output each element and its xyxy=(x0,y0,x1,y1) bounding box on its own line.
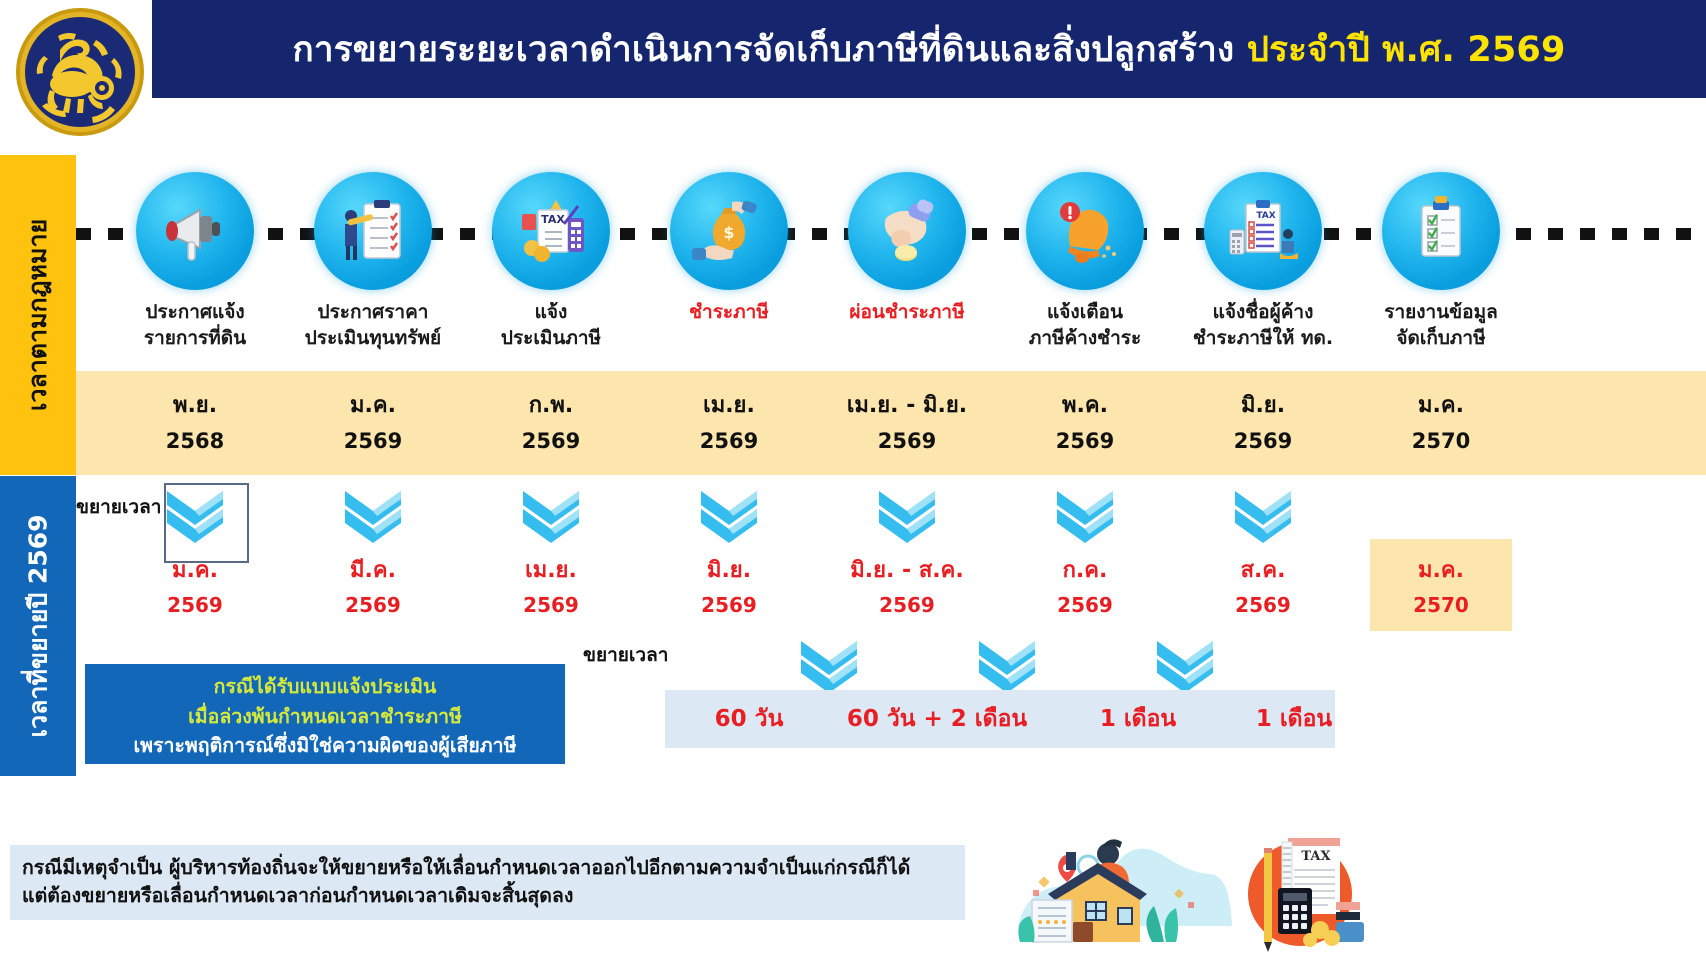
double-chevron-down-icon xyxy=(697,487,761,545)
ext-date-2: มี.ค. 2569 xyxy=(284,483,462,617)
step-7-bubble: TAX xyxy=(1204,172,1322,290)
legal-year-6: 2569 xyxy=(996,429,1174,453)
assessment-notice-note-box: กรณีได้รับแบบแจ้งประเมิน เมื่อล่วงพ้นกำห… xyxy=(85,664,565,764)
step-3-label: แจ้ง ประเมินภาษี xyxy=(462,299,640,351)
page-title-highlight: ประจำปี พ.ศ. 2569 xyxy=(1247,30,1566,70)
ext-year-1: 2569 xyxy=(106,593,284,617)
legal-year-7: 2569 xyxy=(1174,429,1352,453)
blue-note-line-2: เมื่อล่วงพ้นกำหนดเวลาชำระภาษี xyxy=(85,702,565,732)
ext-date-4: มิ.ย. 2569 xyxy=(640,483,818,617)
legal-year-1: 2568 xyxy=(106,429,284,453)
ext-date-8: ม.ค. 2570 xyxy=(1370,539,1512,631)
ext-month-2: มี.ค. xyxy=(284,552,462,587)
ext-year-2: 2569 xyxy=(284,593,462,617)
double-chevron-down-icon xyxy=(875,487,939,545)
bottom-note-line-1: กรณีมีเหตุจำเป็น ผู้บริหารท้องถิ่นจะให้ข… xyxy=(22,854,953,882)
legal-date-6: พ.ค. 2569 xyxy=(996,371,1174,453)
process-step-row: ประกาศแจ้ง รายการที่ดิน xyxy=(76,155,1706,370)
step-1-label: ประกาศแจ้ง รายการที่ดิน xyxy=(106,299,284,351)
legal-date-5: เม.ย. - มิ.ย. 2569 xyxy=(818,371,996,453)
double-chevron-down-icon xyxy=(797,637,861,695)
double-chevron-down-icon xyxy=(1053,487,1117,545)
legal-month-6: พ.ค. xyxy=(996,387,1174,422)
legal-month-1: พ.ย. xyxy=(106,387,284,422)
step-5-bubble xyxy=(848,172,966,290)
ext-date-5: มิ.ย. - ส.ค. 2569 xyxy=(818,483,996,617)
alert-bell-icon xyxy=(1046,192,1124,270)
step-4[interactable]: $ ชำระภาษี xyxy=(640,155,818,325)
step-6-label: แจ้งเตือน ภาษีค้างชำระ xyxy=(996,299,1174,351)
checklist-clipboard-icon xyxy=(1402,192,1480,270)
ext-month-7: ส.ค. xyxy=(1174,552,1352,587)
ext-date-6: ก.ค. 2569 xyxy=(996,483,1174,617)
tax-clipboard-calculator-icon: TAX xyxy=(1224,192,1302,270)
ext-date-3: เม.ย. 2569 xyxy=(462,483,640,617)
ext-month-6: ก.ค. xyxy=(996,552,1174,587)
legal-month-4: เม.ย. xyxy=(640,387,818,422)
ext-year-7: 2569 xyxy=(1174,593,1352,617)
legal-date-1: พ.ย. 2568 xyxy=(106,371,284,453)
rail-extended-timeline: เวลาที่ขยายปี 2569 xyxy=(0,476,76,776)
legal-month-8: ม.ค. xyxy=(1352,387,1530,422)
page-title-main: การขยายระยะเวลาดำเนินการจัดเก็บภาษีที่ดิ… xyxy=(292,30,1246,70)
hand-coin-icon xyxy=(868,192,946,270)
double-chevron-down-icon xyxy=(975,637,1039,695)
legal-date-2: ม.ค. 2569 xyxy=(284,371,462,453)
ext-year-8: 2570 xyxy=(1370,593,1512,617)
step-8-label: รายงานข้อมูล จัดเก็บภาษี xyxy=(1352,299,1530,351)
megaphone-icon xyxy=(156,192,234,270)
double-chevron-down-icon xyxy=(1153,637,1217,695)
page-title: การขยายระยะเวลาดำเนินการจัดเก็บภาษีที่ดิ… xyxy=(292,22,1565,77)
rail-legal-timeline: เวลาตามกฎหมาย xyxy=(0,155,76,475)
step-6-bubble xyxy=(1026,172,1144,290)
ext-date-7: ส.ค. 2569 xyxy=(1174,483,1352,617)
step-4-bubble: $ xyxy=(670,172,788,290)
legal-year-5: 2569 xyxy=(818,429,996,453)
step-8-bubble xyxy=(1382,172,1500,290)
svg-text:TAX: TAX xyxy=(541,213,565,226)
legal-month-5: เม.ย. - มิ.ย. xyxy=(818,387,996,422)
svg-text:TAX: TAX xyxy=(1256,211,1275,221)
ext-month-4: มิ.ย. xyxy=(640,552,818,587)
step-2-label: ประกาศราคา ประเมินทุนทรัพย์ xyxy=(284,299,462,351)
house-inspection-illustration xyxy=(1000,830,1235,955)
extension-first-highlight-frame xyxy=(164,483,249,563)
legal-year-2: 2569 xyxy=(284,429,462,453)
double-chevron-down-icon xyxy=(1231,487,1295,545)
step-6[interactable]: แจ้งเตือน ภาษีค้างชำระ xyxy=(996,155,1174,351)
duration-value-2: 60 วัน + 2 เดือน xyxy=(817,690,1057,748)
legal-timeline-band: พ.ย. 2568 ม.ค. 2569 ก.พ. 2569 เม.ย. 2569… xyxy=(76,371,1706,475)
extended-timeline-row: ม.ค. 2569 มี.ค. 2569 เม.ย. 2569 มิ.ย. xyxy=(76,483,1706,643)
duration-value-4: 1 เดือน xyxy=(1205,690,1383,748)
legal-month-3: ก.พ. xyxy=(462,387,640,422)
blue-note-line-3: เพราะพฤติการณ์ซึ่งมิใช่ความผิดของผู้เสีย… xyxy=(85,731,565,761)
step-7-label: แจ้งชื่อผู้ค้าง ชำระภาษีให้ ทด. xyxy=(1174,299,1352,351)
step-2[interactable]: ประกาศราคา ประเมินทุนทรัพย์ xyxy=(284,155,462,351)
blue-note-line-1: กรณีได้รับแบบแจ้งประเมิน xyxy=(85,672,565,702)
tax-document-calculator-illustration: TAX xyxy=(1240,830,1365,955)
bottom-note-line-2: แต่ต้องขยายหรือเลื่อนกำหนดเวลาก่อนกำหนดเ… xyxy=(22,882,953,910)
duration-value-1: 60 วัน xyxy=(660,690,838,748)
legal-year-3: 2569 xyxy=(462,429,640,453)
legal-year-4: 2569 xyxy=(640,429,818,453)
rail-extended-label: เวลาที่ขยายปี 2569 xyxy=(18,515,58,738)
duration-band: 60 วัน 60 วัน + 2 เดือน 1 เดือน 1 เดือน xyxy=(665,690,1335,748)
bottom-note-box: กรณีมีเหตุจำเป็น ผู้บริหารท้องถิ่นจะให้ข… xyxy=(10,845,965,920)
duration-value-3: 1 เดือน xyxy=(1049,690,1227,748)
step-3[interactable]: TAX แจ้ง ประเมินภาษี xyxy=(462,155,640,351)
legal-date-7: มิ.ย. 2569 xyxy=(1174,371,1352,453)
step-7[interactable]: TAX xyxy=(1174,155,1352,351)
duration-chevron-row xyxy=(665,633,1335,691)
double-chevron-down-icon xyxy=(341,487,405,545)
step-4-label: ชำระภาษี xyxy=(640,299,818,325)
legal-date-8: ม.ค. 2570 xyxy=(1352,371,1530,453)
legal-date-3: ก.พ. 2569 xyxy=(462,371,640,453)
ext-month-8: ม.ค. xyxy=(1370,552,1512,587)
double-chevron-down-icon xyxy=(519,487,583,545)
ext-month-3: เม.ย. xyxy=(462,552,640,587)
ext-year-5: 2569 xyxy=(818,593,996,617)
legal-month-7: มิ.ย. xyxy=(1174,387,1352,422)
step-3-bubble: TAX xyxy=(492,172,610,290)
svg-text:$: $ xyxy=(723,223,734,242)
step-1-bubble xyxy=(136,172,254,290)
tax-document-icon: TAX xyxy=(512,192,590,270)
ext-year-4: 2569 xyxy=(640,593,818,617)
ext-month-5: มิ.ย. - ส.ค. xyxy=(818,552,996,587)
step-5[interactable]: ผ่อนชำระภาษี xyxy=(818,155,996,325)
step-1[interactable]: ประกาศแจ้ง รายการที่ดิน xyxy=(106,155,284,351)
clipboard-person-icon xyxy=(334,192,412,270)
legal-month-2: ม.ค. xyxy=(284,387,462,422)
money-bag-hand-icon: $ xyxy=(690,192,768,270)
step-2-bubble xyxy=(314,172,432,290)
thai-dla-garuda-singha-seal-icon xyxy=(14,6,146,138)
extend-tag-row2: ขยายเวลา xyxy=(583,640,668,670)
header-banner: การขยายระยะเวลาดำเนินการจัดเก็บภาษีที่ดิ… xyxy=(152,0,1706,98)
legal-date-4: เม.ย. 2569 xyxy=(640,371,818,453)
ext-year-6: 2569 xyxy=(996,593,1174,617)
step-5-label: ผ่อนชำระภาษี xyxy=(818,299,996,325)
svg-text:TAX: TAX xyxy=(1301,849,1331,864)
legal-year-8: 2570 xyxy=(1352,429,1530,453)
ext-year-3: 2569 xyxy=(462,593,640,617)
step-8[interactable]: รายงานข้อมูล จัดเก็บภาษี xyxy=(1352,155,1530,351)
rail-legal-label: เวลาตามกฎหมาย xyxy=(18,219,58,411)
